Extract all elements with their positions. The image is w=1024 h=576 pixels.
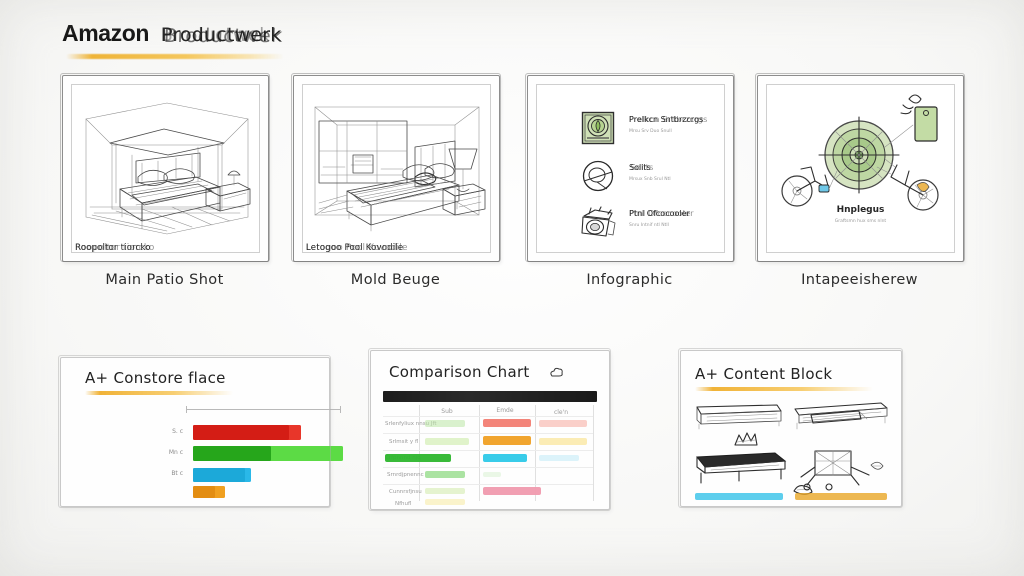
table-cell-3-0 bbox=[425, 471, 465, 478]
table-row-label-4: Cunnrsfjnsu bbox=[389, 489, 422, 495]
table-vline-0 bbox=[419, 405, 420, 501]
bar-0 bbox=[193, 425, 301, 440]
aplus-cell-0[interactable] bbox=[693, 401, 785, 451]
table-cell-1-0 bbox=[425, 438, 469, 445]
panel-aplus-constore-flace[interactable]: A+ Constore flace S. c Mn c Bt c bbox=[60, 357, 330, 507]
circle-dish-icon bbox=[581, 159, 615, 193]
table-cell-0-1 bbox=[483, 419, 531, 427]
brand-row: Amazon Broductwek Productwerk Broductwek bbox=[62, 20, 482, 48]
card-caption: Roopoltor tiorcko Roopoltor tiorcko bbox=[75, 243, 151, 253]
brand-subtitle-wrap: Broductwek Productwerk Broductwek bbox=[161, 24, 281, 48]
table-col-header-1: Emde bbox=[481, 407, 529, 414]
infographic-row-sub-1: Mrsux Snb Srul Ntl bbox=[629, 177, 671, 182]
bar-core-2 bbox=[193, 468, 245, 482]
bar-2 bbox=[193, 468, 251, 482]
table-header-bar bbox=[383, 391, 597, 402]
bar-core-1 bbox=[193, 446, 271, 461]
table-cell-4-1 bbox=[483, 487, 541, 495]
aplus-accent-bar-3 bbox=[795, 493, 887, 500]
gallery-card-label-0: Main Patio Shot bbox=[62, 272, 267, 288]
table-cell-3-1 bbox=[483, 472, 501, 477]
bar-3 bbox=[193, 486, 225, 498]
card-inner-frame: Prelkcn Sntbrzcrgs Prelkcn Sntbrzcrgs Mr… bbox=[536, 84, 725, 253]
page-header: Amazon Broductwek Productwerk Broductwek bbox=[62, 20, 482, 64]
table-hline-3 bbox=[383, 467, 593, 468]
panel-comparison-chart[interactable]: Comparison Chart Sub Emde cle'n Srlenfyl… bbox=[370, 350, 610, 510]
table-cell-0-2 bbox=[539, 420, 587, 427]
table-cell-2-0 bbox=[385, 454, 451, 462]
table-vline-1 bbox=[479, 405, 480, 501]
badge-leaf-icon bbox=[581, 111, 615, 145]
long-shelf-sketch bbox=[793, 401, 889, 441]
gallery-card-mold-beuge[interactable]: Letogoo Pool Kovodile Letogoo Pool Kovod… bbox=[293, 75, 500, 262]
table-row-label-5: Nfhufl bbox=[395, 501, 412, 507]
card-caption-ghost: Roopoltor tiorcko bbox=[75, 243, 155, 253]
infographic-row-title-ghost-0: Prelkcn Sntbrzcrgs bbox=[629, 115, 708, 124]
aplus-cell-3[interactable] bbox=[799, 447, 891, 493]
lifestyle-caption: Hnplegus bbox=[767, 205, 954, 215]
gallery-card-lifestyle[interactable]: Hnplegus Graftsmn hux sms nlnt bbox=[757, 75, 964, 262]
card-inner-frame: Hnplegus Graftsmn hux sms nlnt bbox=[766, 84, 955, 253]
infographic-row-title-0: Prelkcn Sntbrzcrgs Prelkcn Sntbrzcrgs bbox=[629, 115, 703, 124]
infographic-row-2 bbox=[579, 205, 617, 241]
table-cell-2-2 bbox=[539, 455, 579, 461]
infographic-row-1 bbox=[581, 159, 615, 193]
aplus-cell-2[interactable] bbox=[693, 451, 789, 489]
table-row-label-3: Srnrdjpnennc bbox=[387, 472, 424, 478]
bar-label-0: S. c bbox=[139, 428, 183, 435]
panel-aplus-content-block[interactable]: A+ Content Block bbox=[680, 350, 902, 507]
lifestyle-subcaption: Graftsmn hux sms nlnt bbox=[767, 219, 954, 224]
gallery-card-label-3: Intapeeisherew bbox=[757, 272, 962, 288]
infographic-row-title-2: Ptnl Ofcocooler Ptnl Ofcocooler bbox=[629, 209, 690, 218]
infographic-row-sub-2: Snru Intnif ntl Ntll bbox=[629, 223, 669, 228]
bar-core-3 bbox=[193, 486, 215, 498]
table-cell-0-0 bbox=[425, 420, 465, 427]
gallery-card-main-patio-shot[interactable]: Roopoltor tiorcko Roopoltor tiorcko bbox=[62, 75, 269, 262]
table-hline-4 bbox=[383, 484, 593, 485]
bar-label-2: Bt c bbox=[139, 470, 183, 477]
table-cell-1-1 bbox=[483, 436, 531, 445]
canvas-stage: Amazon Broductwek Productwerk Broductwek bbox=[0, 0, 1024, 576]
aplus-cell-1[interactable] bbox=[793, 401, 889, 441]
infographic-row-title-ghost-1: Solits bbox=[630, 163, 653, 172]
table-row-label-1: Srlmsit y fl bbox=[389, 439, 418, 445]
infographic-row-title-ghost-2: Ptnl Ofcocooler bbox=[629, 209, 693, 218]
panel-title-0: A+ Constore flace bbox=[85, 369, 226, 387]
page-title: Amazon bbox=[62, 20, 149, 47]
gallery-card-label-1: Mold Beuge bbox=[293, 272, 498, 288]
camera-stack-icon bbox=[579, 205, 617, 241]
table-cell-1-2 bbox=[539, 438, 587, 445]
header-accent-underline bbox=[66, 54, 284, 59]
table-vline-3 bbox=[593, 405, 594, 501]
table-hline-0 bbox=[383, 416, 593, 417]
gallery-card-infographic[interactable]: Prelkcn Sntbrzcrgs Prelkcn Sntbrzcrgs Mr… bbox=[527, 75, 734, 262]
bar-label-1: Mn c bbox=[139, 449, 183, 456]
card-inner-frame bbox=[302, 84, 491, 253]
aplus-accent-bar-2 bbox=[695, 493, 783, 500]
card-caption: Letogoo Pool Kovodile Letogoo Pool Kovod… bbox=[306, 243, 403, 253]
card-inner-frame bbox=[71, 84, 260, 253]
table-hline-2 bbox=[383, 450, 593, 451]
shelf-sketch bbox=[693, 401, 785, 451]
gallery-card-label-2: Infographic bbox=[527, 272, 732, 288]
bench-sketch bbox=[693, 451, 789, 489]
panel-title-1: Comparison Chart bbox=[389, 363, 530, 381]
infographic-row-title-1: Solits Solits bbox=[629, 163, 651, 172]
cloud-glyph bbox=[549, 367, 563, 379]
bedroom-window-lamp-sketch bbox=[303, 85, 491, 253]
chair-sketch bbox=[799, 447, 891, 493]
brand-subtitle-ghost-front: Broductwek bbox=[163, 25, 283, 47]
panel-accent-underline-2 bbox=[695, 387, 873, 391]
bar-core-0 bbox=[193, 425, 289, 440]
table-cell-4-0 bbox=[425, 488, 465, 494]
infographic-row-0 bbox=[581, 111, 615, 145]
panel-title-2: A+ Content Block bbox=[695, 365, 832, 383]
table-hline-1 bbox=[383, 433, 593, 434]
bar-1 bbox=[193, 446, 343, 461]
table-cell-2-1 bbox=[483, 454, 527, 462]
infographic-row-sub-0: Mrsu Srv Duo Snull bbox=[629, 129, 672, 134]
bedroom-canopy-sketch bbox=[72, 85, 260, 253]
card-caption-ghost: Letogoo Pool Kovodile bbox=[306, 243, 408, 253]
table-col-header-0: Sub bbox=[423, 408, 471, 415]
bar-chart-axis bbox=[186, 409, 341, 410]
table-col-header-2: cle'n bbox=[539, 409, 583, 416]
panel-accent-underline-0 bbox=[85, 391, 233, 395]
table-cell-5-0 bbox=[425, 499, 465, 505]
